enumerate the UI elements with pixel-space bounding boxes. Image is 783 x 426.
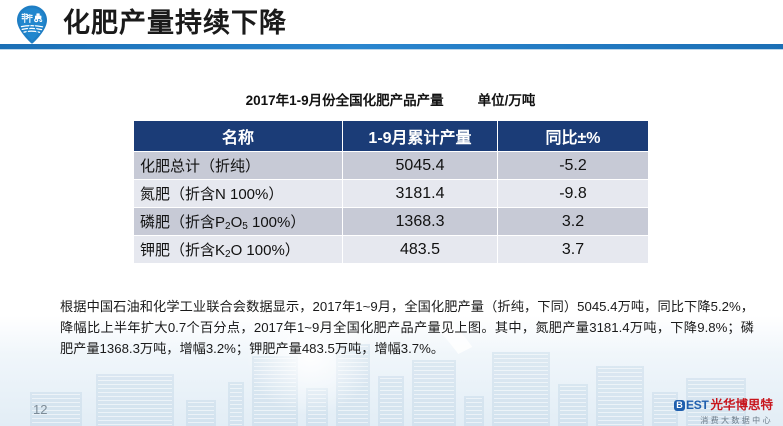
- table-row: 化肥总计（折纯） 5045.4 -5.2: [134, 152, 649, 180]
- slide-header: 化肥产量持续下降: [0, 0, 783, 50]
- cell-name: 磷肥（折含P2O5 100%）: [134, 208, 343, 236]
- brand-tagline: 消费大数据中心: [661, 415, 773, 426]
- brand-latin-text: EST: [686, 398, 708, 413]
- cell-name-mid: O: [231, 242, 243, 259]
- page-title: 化肥产量持续下降: [63, 6, 287, 40]
- brand-logo: BEST光华博思特 消费大数据中心: [661, 398, 773, 424]
- page-number: 12: [33, 402, 47, 417]
- cell-name: 钾肥（折含K2O 100%）: [134, 236, 343, 264]
- column-header-name: 名称: [134, 121, 343, 152]
- cell-name: 化肥总计（折纯）: [134, 152, 343, 180]
- location-pin-agriculture-icon: [10, 3, 54, 47]
- header-accent-rule-thin: [0, 49, 783, 50]
- cell-name-post: 100%）: [248, 214, 306, 231]
- table-unit-label: 单位/万吨: [478, 93, 536, 108]
- cell-output: 5045.4: [343, 152, 498, 180]
- column-header-yoy: 同比±%: [498, 121, 649, 152]
- fertilizer-output-table: 名称 1-9月累计产量 同比±% 化肥总计（折纯） 5045.4 -5.2 氮肥…: [133, 120, 649, 264]
- cell-name: 氮肥（折含N 100%）: [134, 180, 343, 208]
- cell-name-pre: 磷肥（折含P: [140, 214, 225, 231]
- cell-yoy: 3.7: [498, 236, 649, 264]
- column-header-output: 1-9月累计产量: [343, 121, 498, 152]
- cell-yoy: -5.2: [498, 152, 649, 180]
- table-row: 磷肥（折含P2O5 100%） 1368.3 3.2: [134, 208, 649, 236]
- table-header-row: 名称 1-9月累计产量 同比±%: [134, 121, 649, 152]
- cell-yoy: -9.8: [498, 180, 649, 208]
- slide: 化肥产量持续下降 2017年1-9月份全国化肥产品产量单位/万吨 名称 1-9月…: [0, 0, 783, 426]
- cell-name-mid: O: [231, 214, 243, 231]
- table-row: 氮肥（折含N 100%） 3181.4 -9.8: [134, 180, 649, 208]
- body-paragraph: 根据中国石油和化学工业联合会数据显示，2017年1~9月，全国化肥产量（折纯，下…: [60, 296, 754, 359]
- table-caption: 2017年1-9月份全国化肥产品产量单位/万吨: [133, 89, 648, 109]
- cell-name-pre: 钾肥（折含K: [140, 242, 225, 259]
- cell-yoy: 3.2: [498, 208, 649, 236]
- cell-name-post: 100%）: [242, 242, 300, 259]
- brand-cn-text: 光华博思特: [710, 398, 773, 413]
- table-caption-text: 2017年1-9月份全国化肥产品产量: [246, 93, 444, 108]
- brand-mark-icon: B: [674, 400, 685, 411]
- table-row: 钾肥（折含K2O 100%） 483.5 3.7: [134, 236, 649, 264]
- cell-output: 3181.4: [343, 180, 498, 208]
- cell-output: 483.5: [343, 236, 498, 264]
- cell-output: 1368.3: [343, 208, 498, 236]
